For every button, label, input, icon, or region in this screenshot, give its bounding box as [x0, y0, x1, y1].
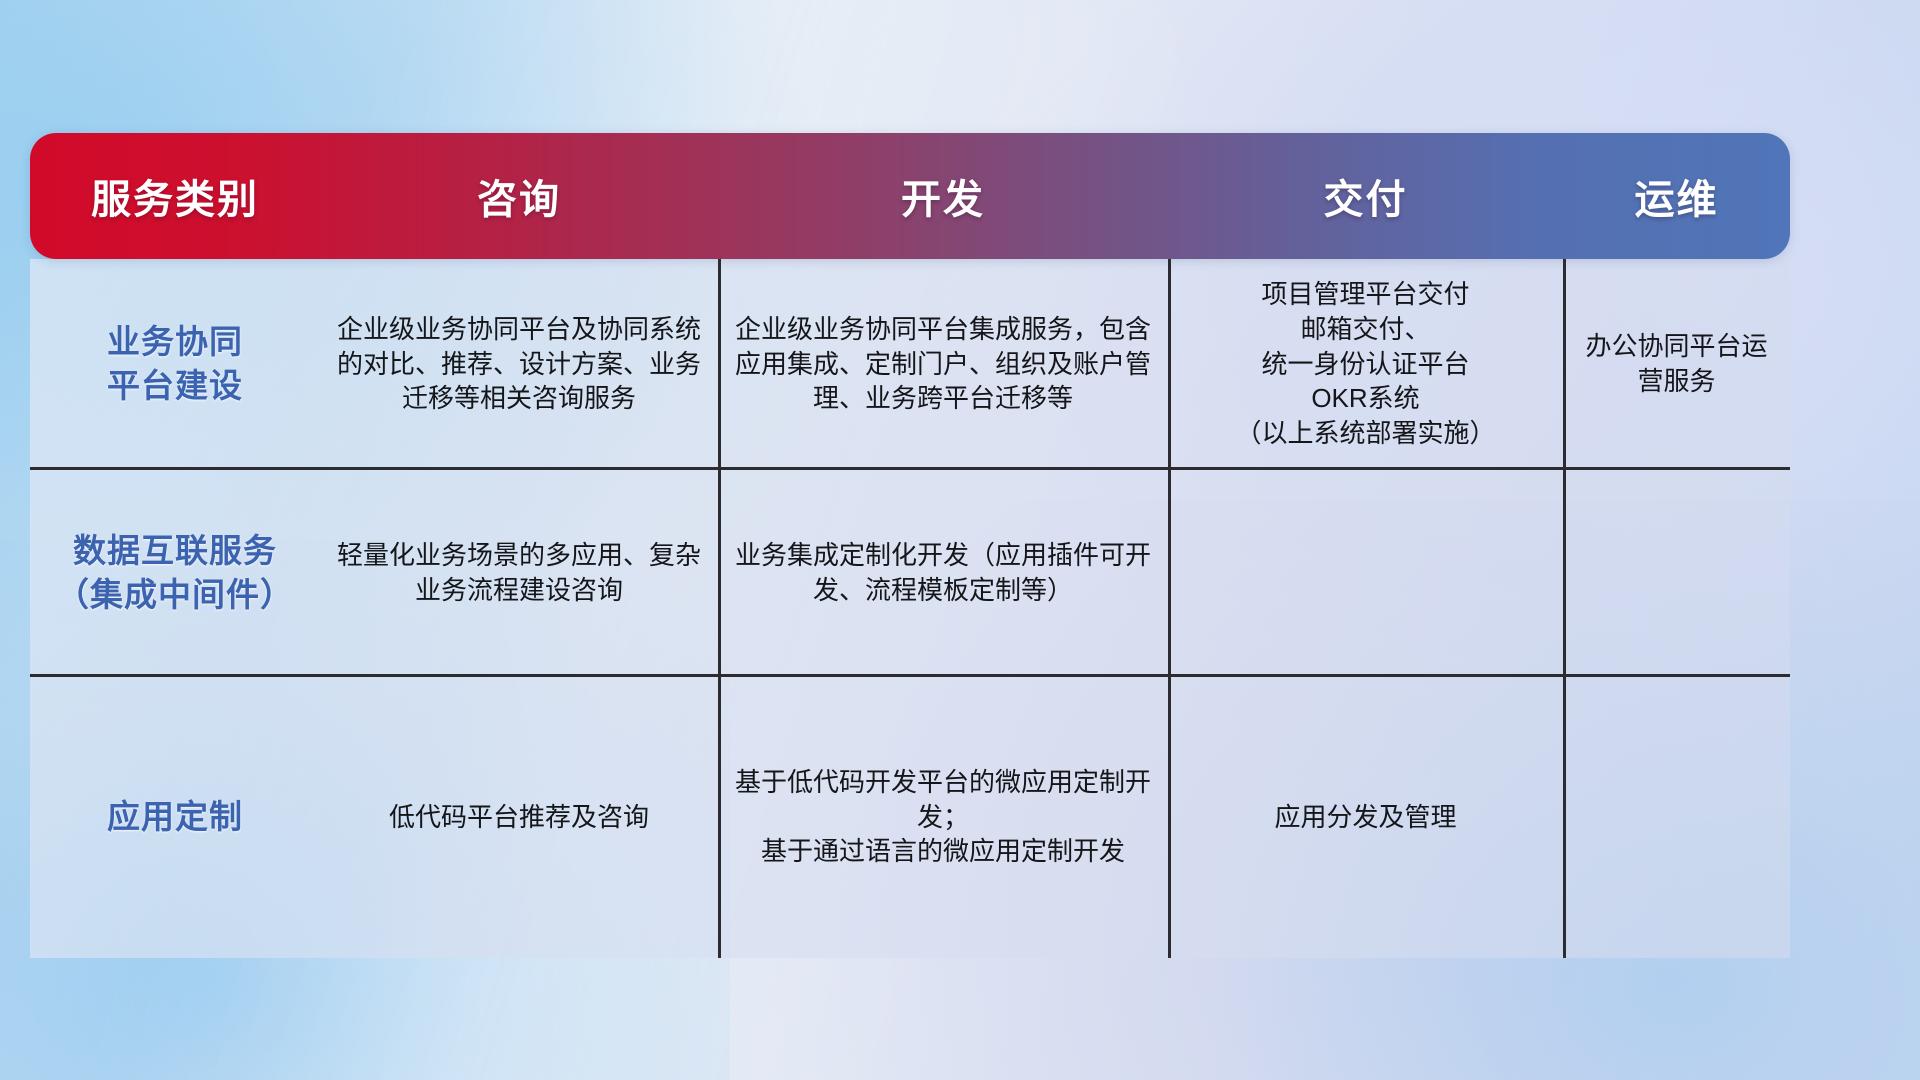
column-header-category: 服务类别 — [30, 133, 320, 259]
table-header-row: 服务类别 咨询 开发 交付 运维 — [30, 133, 1790, 259]
column-header-consulting: 咨询 — [320, 133, 718, 259]
gridline-vertical-delivery-operations — [1563, 259, 1566, 958]
table-gridlines — [30, 259, 1790, 958]
column-header-delivery: 交付 — [1168, 133, 1563, 259]
gridline-vertical-consulting-development — [718, 259, 721, 958]
gridline-vertical-development-delivery — [1168, 259, 1171, 958]
gridline-horizontal-row1-row2 — [30, 467, 1790, 470]
column-header-development: 开发 — [718, 133, 1168, 259]
service-matrix-table: 服务类别 咨询 开发 交付 运维 业务协同 平台建设 企业级业务协同平台及协同系… — [30, 133, 1790, 958]
column-header-operations: 运维 — [1563, 133, 1790, 259]
gridline-horizontal-row2-row3 — [30, 674, 1790, 677]
